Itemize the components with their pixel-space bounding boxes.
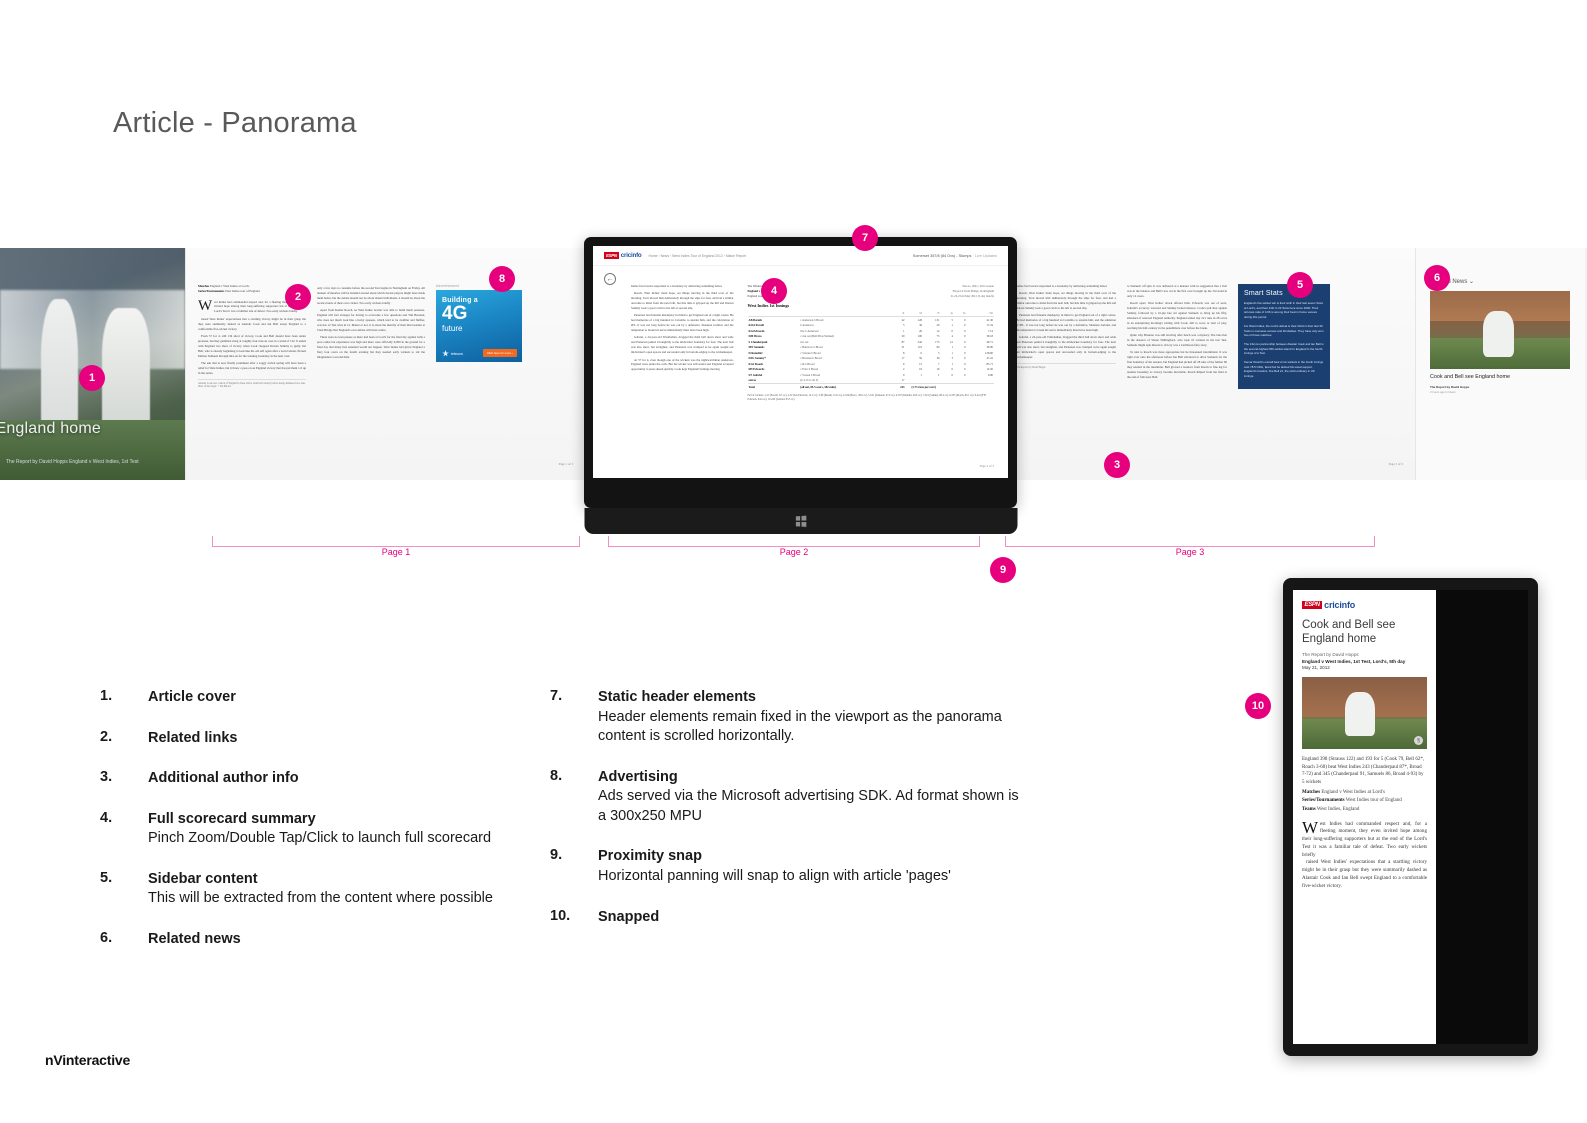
bracket-page-2: Page 2: [608, 536, 980, 558]
legend-number: 9.: [550, 847, 598, 886]
scorecard-table[interactable]: R M B 4s 6s SR AB Barathc Anderson b Bro…: [748, 311, 994, 390]
snapped-filler-area: [1436, 590, 1528, 1044]
snapped-match-meta: England v West Indies, 1st Test, Lord's,…: [1302, 659, 1427, 664]
related-news-timestamp: 2 hours ago in News: [1430, 390, 1571, 394]
legend-title: Proximity snap: [598, 847, 951, 867]
snapped-byline: The Report by David Hopps: [1302, 652, 1427, 657]
paragraph: Gabriel, a 24-year-old Trinidadian, drag…: [1016, 335, 1116, 360]
legend-item: 8.AdvertisingAds served via the Microsof…: [550, 768, 1020, 827]
page3-column-1: Indies fast bowler responded to a bounda…: [1016, 284, 1116, 389]
bracket-cap-right: [979, 536, 980, 547]
score-text: Somerset 357/8 (84 Ovs) - Stumps: [913, 254, 972, 258]
callout-pin-3[interactable]: 3: [1104, 452, 1130, 478]
paragraph: Pietersen had fulsome misdeploy in mind …: [631, 313, 734, 333]
legend-item: 10.Snapped: [550, 908, 1020, 928]
snapped-body: W est Indies had commanded respect and, …: [1302, 821, 1427, 891]
tablet-screen[interactable]: ESPN cricinfo Cook and Bell see England …: [1293, 590, 1528, 1044]
bracket-page-3: Page 3: [1005, 536, 1375, 558]
monitor-screen[interactable]: ESPN cricinfo Home › News › West Indies …: [593, 246, 1008, 478]
legend-number: 7.: [550, 688, 598, 747]
callout-pin-10[interactable]: 10: [1245, 693, 1271, 719]
legend-title: Advertising: [598, 768, 1020, 788]
desktop-monitor: ESPN cricinfo Home › News › West Indies …: [584, 237, 1017, 508]
legend-number: 5.: [100, 870, 148, 909]
cover-backdrop: [0, 290, 185, 369]
paragraph: The sun that is now finally prominent af…: [198, 361, 306, 376]
espn-mark: ESPN: [1302, 601, 1322, 609]
static-header: ESPN cricinfo Home › News › West Indies …: [593, 246, 1008, 266]
photo-caption: Alastair Cook saw control of England's c…: [198, 379, 306, 390]
total-row: Total(all out, 85.5 overs, 382 mins)243(…: [748, 384, 994, 390]
legend-item: 5.Sidebar contentThis will be extracted …: [100, 870, 580, 909]
smart-stats-paragraph: For West Indies, the Lord's defeat is th…: [1244, 324, 1324, 338]
legend-title: Related news: [148, 930, 241, 950]
total-label: Total: [748, 384, 800, 390]
ad-logo-text: telecom: [451, 352, 463, 356]
paragraph: Apart from Kemar Roach, no West Indies b…: [317, 308, 425, 333]
legend-title: Sidebar content: [148, 870, 493, 890]
legend-title: Additional author info: [148, 769, 299, 789]
legend-title: Snapped: [598, 908, 659, 928]
paragraph: Indies fast bowler responded to a bounda…: [1016, 284, 1116, 289]
cover-headline: l see England home: [0, 420, 185, 438]
ad-line-3: future: [442, 324, 516, 333]
paragraph: Indies fast bowler responded to a bounda…: [631, 284, 734, 289]
series-label: Series/Tournaments: [198, 289, 224, 293]
callout-pin-4[interactable]: 4: [761, 278, 787, 304]
smart-stats-paragraph: The 132-run partnership between Alastair…: [1244, 342, 1324, 356]
legend-description: Header elements remain fixed in the view…: [598, 708, 1020, 747]
thumb-player: [1483, 311, 1514, 356]
bracket-page-1: Page 1: [212, 536, 580, 558]
callout-pin-9[interactable]: 9: [990, 557, 1016, 583]
bracket-label: Page 2: [774, 547, 815, 557]
legend-title: Article cover: [148, 688, 236, 708]
teams-label: Teams: [1302, 807, 1316, 812]
legend-item: 1.Article cover: [100, 688, 580, 708]
paragraph: Roach, West Indies' main hope, set thing…: [1016, 291, 1116, 311]
legend-number: 2.: [100, 729, 148, 749]
callout-pin-5[interactable]: 5: [1287, 272, 1313, 298]
star-icon: [442, 350, 449, 357]
legend-title: Full scorecard summary: [148, 810, 491, 830]
related-news-thumbnail[interactable]: [1430, 291, 1570, 369]
paragraph: From 57 for 4, still 134 short of victor…: [198, 334, 306, 359]
dropcap: W: [198, 300, 214, 312]
legend-description: Horizontal panning will snap to align wi…: [598, 867, 951, 887]
paragraph: Quite why Bresnan was still bowling afte…: [1127, 333, 1227, 348]
legend-item: 7.Static header elementsHeader elements …: [550, 688, 1020, 747]
legend-number: 4.: [100, 810, 148, 849]
chevron-down-icon[interactable]: ⌄: [1469, 279, 1474, 285]
bracket-label: Page 1: [376, 547, 417, 557]
cricinfo-logo[interactable]: ESPN cricinfo: [1302, 600, 1427, 610]
matches-value[interactable]: England v West Indies at Lord's: [210, 284, 249, 288]
bracket-label: Page 3: [1170, 547, 1211, 557]
matches-label: Matches: [198, 284, 209, 288]
paragraph: est Indies had commanded respect and, fo…: [1302, 821, 1427, 860]
legend-description: This will be extracted from the content …: [148, 889, 493, 909]
legend-number: 3.: [100, 769, 148, 789]
espn-mark: ESPN: [604, 252, 619, 259]
page-title: Article - Panorama: [113, 107, 357, 140]
callout-pin-1[interactable]: 1: [79, 365, 105, 391]
snapped-pane[interactable]: ESPN cricinfo Cook and Bell see England …: [1293, 590, 1436, 1044]
callout-pin-6[interactable]: 6: [1424, 265, 1450, 291]
paragraph: Roach, West Indies' main hope, set thing…: [631, 291, 734, 311]
paragraph: Roach apart, West Indies' attack offered…: [1127, 301, 1227, 331]
bracket-cap-right: [579, 536, 580, 547]
page-number: Page 2 of 3: [980, 464, 994, 468]
footer-logo: nVinteractive: [45, 1052, 130, 1068]
legend-number: 10.: [550, 908, 598, 928]
ad-line-2: 4G: [442, 305, 516, 323]
series-value[interactable]: West Indies tour of England: [1346, 798, 1402, 803]
author-info: The Report by David Hopps: [1016, 363, 1116, 370]
callout-pin-8[interactable]: 8: [489, 266, 515, 292]
paragraph: There were no lean pauses as there had b…: [317, 335, 425, 360]
snapped-tablet: ESPN cricinfo Cook and Bell see England …: [1283, 578, 1538, 1056]
legend-item: 6.Related news: [100, 930, 580, 950]
paragraph: only a few days to consume before the se…: [317, 286, 425, 306]
page3-column-2: to Samuels' off spin. It was delivered a…: [1127, 284, 1227, 389]
sidebar-smart-stats[interactable]: Smart Stats England's five-wicket win is…: [1238, 284, 1330, 389]
snapped-title: Cook and Bell see England home: [1302, 619, 1427, 646]
scorecard-venue: Played at Trent Bridge, Nottingham: [951, 289, 994, 294]
legend-number: 1.: [100, 688, 148, 708]
legend-description: Pinch Zoom/Double Tap/Click to launch fu…: [148, 829, 491, 849]
related-news-byline: The Report by David Hopps: [1430, 385, 1571, 389]
advertisement[interactable]: Advertisement Building a 4G future telec…: [436, 284, 526, 389]
callout-pin-7[interactable]: 7: [852, 225, 878, 251]
photo-player: [1345, 692, 1375, 737]
matches-value[interactable]: England v West Indies at Lord's: [1321, 790, 1385, 795]
article-page-1[interactable]: Matches England v West Indies at Lord's …: [185, 248, 585, 480]
legend-number: 8.: [550, 768, 598, 827]
fall-of-wickets: Fall of wickets: 1-21 (Powell, 8.5 ov), …: [748, 394, 994, 402]
paragraph: Pietersen had fulsome misdeploy in mind …: [1016, 313, 1116, 333]
article-page-3[interactable]: Indies fast bowler responded to a bounda…: [1003, 248, 1415, 480]
monitor-content: Indies fast bowler responded to a bounda…: [593, 266, 1008, 402]
paragraph: raised West Indies' expectations that a …: [198, 317, 306, 332]
related-news-header[interactable]: Related News ⌄: [1430, 278, 1571, 285]
page-number: Page 1 of 3: [559, 462, 573, 466]
live-score-strip[interactable]: Somerset 357/8 (84 Ovs) - Stumps · Live …: [913, 254, 997, 258]
author-name: The Report by David Hopps: [1016, 366, 1045, 369]
teams-value[interactable]: West Indies, England: [1317, 807, 1360, 812]
legend-column-left: 1.Article cover2.Related links3.Addition…: [100, 688, 580, 971]
snapped-series[interactable]: Series/Tournaments West Indies tour of E…: [1302, 798, 1427, 803]
paragraph: to Samuels' off spin. It was delivered a…: [1127, 284, 1227, 299]
cricinfo-mark: cricinfo: [1324, 600, 1355, 610]
windows-logo-icon: [795, 515, 806, 527]
snapped-matches[interactable]: Matches England v West Indies at Lord's: [1302, 790, 1427, 795]
page1-column-2: only a few days to consume before the se…: [317, 284, 425, 389]
bracket-cap-right: [1374, 536, 1375, 547]
breadcrumb[interactable]: Home › News › West Indies Tour of Englan…: [649, 254, 747, 258]
snapped-photo[interactable]: §: [1302, 677, 1427, 749]
series-value[interactable]: West Indies tour of England: [225, 289, 260, 293]
legend-description: Ads served via the Microsoft advertising…: [598, 787, 1020, 826]
legend-item: 9.Proximity snapHorizontal panning will …: [550, 847, 1020, 886]
ad-creative[interactable]: Building a 4G future telecom Click here …: [436, 290, 522, 362]
paragraph: To turn to Roach was more appropriate bu…: [1127, 350, 1227, 380]
callout-pin-2[interactable]: 2: [285, 284, 311, 310]
cover-byline: The Report by David Hopps England v West…: [6, 459, 139, 467]
paragraph: Gabriel, a 24-year-old Trinidadian, drag…: [631, 335, 734, 355]
smart-stats-paragraph: Kemar Roach's overall haul of six wicket…: [1244, 360, 1324, 379]
legend-item: 2.Related links: [100, 729, 580, 749]
legend-item: 4.Full scorecard summaryPinch Zoom/Doubl…: [100, 810, 580, 849]
series-label: Series/Tournaments: [1302, 798, 1345, 803]
article-cover[interactable]: l see England home The Report by David H…: [0, 248, 185, 480]
cricinfo-mark: cricinfo: [621, 252, 642, 259]
total-detail: (all out, 85.5 overs, 382 mins): [799, 384, 888, 390]
total-run-rate: (2.73 runs per over): [905, 384, 994, 390]
legend-item: 3.Additional author info: [100, 769, 580, 789]
smart-stats-title: Smart Stats: [1244, 290, 1324, 297]
legend-column-right: 7.Static header elementsHeader elements …: [550, 688, 1020, 948]
scorecard-dates: 21,22,23,24 May 2012 (5-day match): [951, 294, 994, 299]
snapped-teams[interactable]: Teams West Indies, England: [1302, 807, 1427, 812]
monitor-scorecard[interactable]: The Wisden Trophy - 1st Test England v W…: [748, 284, 994, 402]
smart-stats-paragraph: England's five-wicket win is their sixth…: [1244, 301, 1324, 320]
live-updates-link[interactable]: · Live Updates: [973, 254, 997, 258]
page-number: Page 3 of 3: [1389, 462, 1403, 466]
legend-title: Static header elements: [598, 688, 1020, 708]
dropcap: W: [1302, 821, 1320, 834]
monitor-stand: [584, 508, 1017, 534]
paragraph: raised West Indies' expectations that a …: [1302, 859, 1427, 890]
total-value: 243: [888, 384, 905, 390]
cricinfo-logo[interactable]: ESPN cricinfo: [604, 252, 642, 259]
legend-number: 6.: [100, 930, 148, 950]
matches-label: Matches: [1302, 790, 1320, 795]
snapped-date: May 21, 2012: [1302, 665, 1427, 670]
ad-cta-button[interactable]: Click here for more ›: [483, 349, 517, 357]
back-arrow-icon[interactable]: ←: [604, 273, 616, 285]
ad-advertiser: telecom: [442, 350, 463, 357]
scorecard-innings-title: West Indies 1st Innings: [748, 303, 994, 308]
snapped-score-summary: England 398 (Strauss 122) and 193 for 5 …: [1302, 756, 1427, 786]
related-news-title[interactable]: Cook and Bell see England home: [1430, 374, 1571, 381]
monitor-column-1: Indies fast bowler responded to a bounda…: [631, 284, 734, 402]
paragraph: At 57 for 4, even though one of the wick…: [631, 358, 734, 373]
legend-title: Related links: [148, 729, 237, 749]
